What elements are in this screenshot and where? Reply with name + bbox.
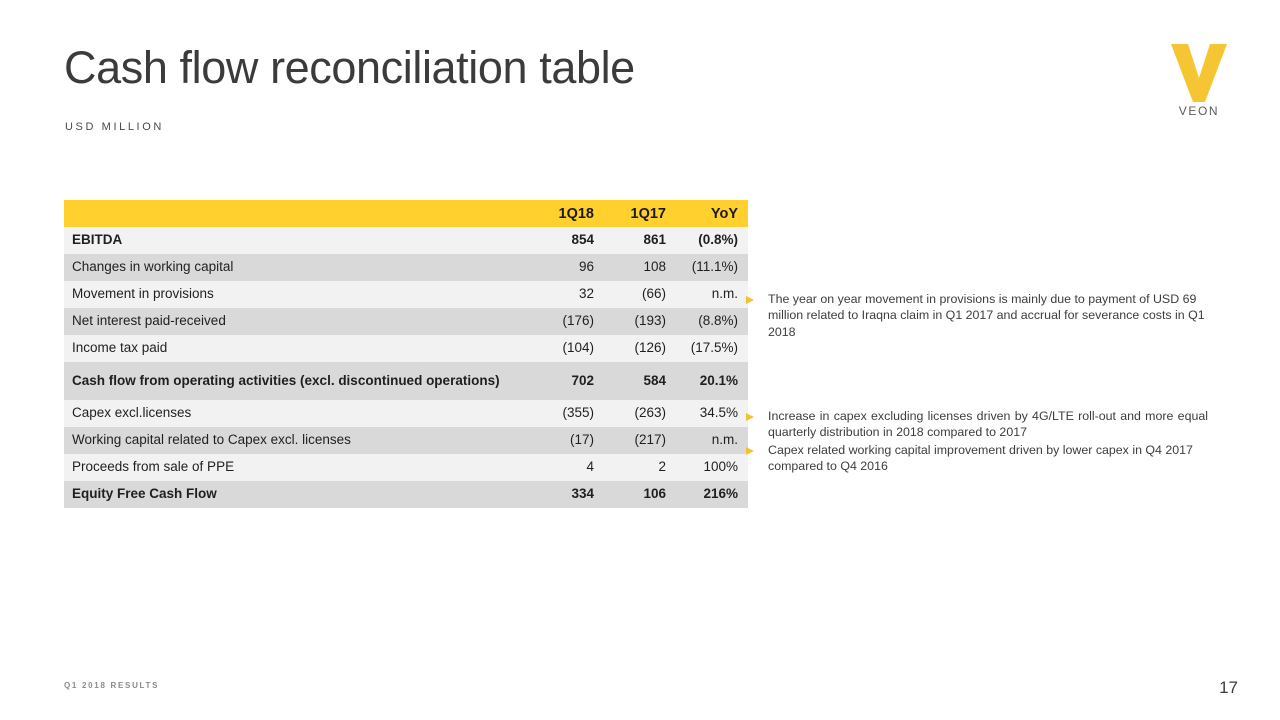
- cell-1q17: (193): [604, 308, 676, 335]
- cell-1q18: (104): [532, 335, 604, 362]
- table-row: Changes in working capital96108(11.1%): [64, 254, 748, 281]
- cell-1q17: (217): [604, 427, 676, 454]
- table-row: EBITDA854861(0.8%): [64, 227, 748, 254]
- table-header-row: 1Q18 1Q17 YoY: [64, 200, 748, 227]
- cell-label: Capex excl.licenses: [64, 400, 532, 427]
- cell-1q18: 32: [532, 281, 604, 308]
- cell-1q18: (176): [532, 308, 604, 335]
- cell-label: Proceeds from sale of PPE: [64, 454, 532, 481]
- cell-yoy: 34.5%: [676, 400, 748, 427]
- bullet-triangle-icon: [746, 291, 768, 304]
- slide-canvas: Cash flow reconciliation table USD MILLI…: [0, 0, 1280, 720]
- bullet-triangle-icon: [746, 442, 768, 455]
- cell-1q18: 96: [532, 254, 604, 281]
- veon-wordmark: VEON: [1160, 104, 1238, 118]
- cell-1q17: (126): [604, 335, 676, 362]
- table-row: Net interest paid-received(176)(193)(8.8…: [64, 308, 748, 335]
- cell-1q17: 861: [604, 227, 676, 254]
- page-title: Cash flow reconciliation table: [64, 44, 635, 91]
- cell-1q17: 106: [604, 481, 676, 508]
- cell-yoy: 216%: [676, 481, 748, 508]
- cell-1q18: 334: [532, 481, 604, 508]
- table-row: Cash flow from operating activities (exc…: [64, 362, 748, 400]
- cell-1q17: 2: [604, 454, 676, 481]
- table-body: EBITDA854861(0.8%)Changes in working cap…: [64, 227, 748, 508]
- table-row: Movement in provisions32(66)n.m.: [64, 281, 748, 308]
- column-header-1q18: 1Q18: [532, 200, 604, 227]
- cell-label: Changes in working capital: [64, 254, 532, 281]
- table-row: Income tax paid(104)(126)(17.5%): [64, 335, 748, 362]
- cell-yoy: (0.8%): [676, 227, 748, 254]
- column-header-label: [64, 200, 532, 227]
- cell-label: Movement in provisions: [64, 281, 532, 308]
- annotation-block: The year on year movement in provisions …: [746, 291, 1208, 341]
- cell-label: Cash flow from operating activities (exc…: [64, 362, 532, 400]
- cell-label: Income tax paid: [64, 335, 532, 362]
- footer-label: Q1 2018 RESULTS: [64, 681, 159, 690]
- bullet-text: The year on year movement in provisions …: [768, 291, 1208, 340]
- cell-1q18: (17): [532, 427, 604, 454]
- bullet-item: The year on year movement in provisions …: [746, 291, 1208, 340]
- bullet-triangle-icon: [746, 408, 768, 421]
- cell-1q17: 584: [604, 362, 676, 400]
- cell-yoy: (17.5%): [676, 335, 748, 362]
- cash-flow-table: 1Q18 1Q17 YoY EBITDA854861(0.8%)Changes …: [64, 200, 748, 508]
- table-row: Working capital related to Capex excl. l…: [64, 427, 748, 454]
- table-row: Equity Free Cash Flow334106216%: [64, 481, 748, 508]
- cell-1q18: (355): [532, 400, 604, 427]
- bullet-text: Increase in capex excluding licenses dri…: [768, 408, 1208, 441]
- page-number: 17: [1219, 678, 1238, 698]
- veon-chevron-icon: [1171, 44, 1227, 102]
- cell-label: Working capital related to Capex excl. l…: [64, 427, 532, 454]
- veon-logo: VEON: [1160, 44, 1238, 124]
- cell-1q17: (263): [604, 400, 676, 427]
- cell-yoy: 20.1%: [676, 362, 748, 400]
- column-header-1q17: 1Q17: [604, 200, 676, 227]
- cell-label: EBITDA: [64, 227, 532, 254]
- column-header-yoy: YoY: [676, 200, 748, 227]
- cell-label: Net interest paid-received: [64, 308, 532, 335]
- cell-1q18: 702: [532, 362, 604, 400]
- cell-1q18: 4: [532, 454, 604, 481]
- bullet-item: Increase in capex excluding licenses dri…: [746, 408, 1208, 441]
- cell-yoy: (8.8%): [676, 308, 748, 335]
- cell-yoy: n.m.: [676, 427, 748, 454]
- annotation-block: Increase in capex excluding licenses dri…: [746, 408, 1208, 476]
- table-row: Proceeds from sale of PPE42100%: [64, 454, 748, 481]
- cell-label: Equity Free Cash Flow: [64, 481, 532, 508]
- table-row: Capex excl.licenses(355)(263)34.5%: [64, 400, 748, 427]
- table-header: 1Q18 1Q17 YoY: [64, 200, 748, 227]
- cell-1q17: 108: [604, 254, 676, 281]
- bullet-item: Capex related working capital improvemen…: [746, 442, 1208, 475]
- cell-yoy: (11.1%): [676, 254, 748, 281]
- cell-yoy: 100%: [676, 454, 748, 481]
- cell-1q17: (66): [604, 281, 676, 308]
- bullet-text: Capex related working capital improvemen…: [768, 442, 1208, 475]
- cell-yoy: n.m.: [676, 281, 748, 308]
- page-subtitle: USD MILLION: [65, 121, 164, 133]
- cell-1q18: 854: [532, 227, 604, 254]
